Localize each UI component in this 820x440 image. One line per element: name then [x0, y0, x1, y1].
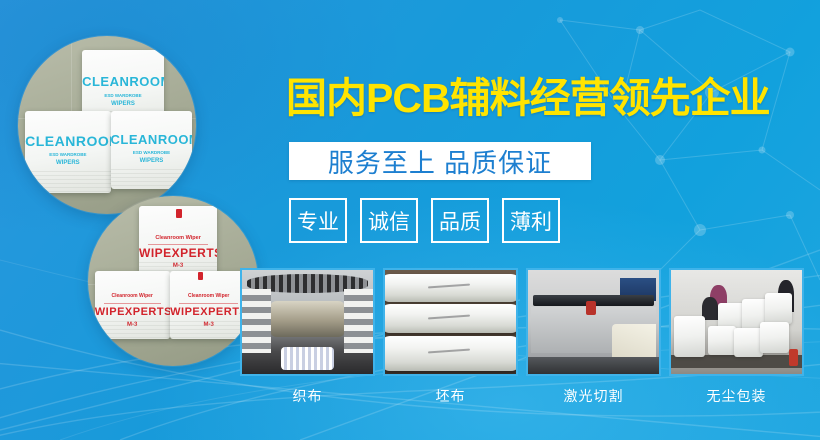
machine-base — [528, 357, 659, 374]
pack-brand-label: WIPEXPERTS — [95, 307, 170, 318]
feature-tag-low-margin[interactable]: 薄利 — [502, 198, 560, 243]
pack-hairline — [104, 303, 161, 304]
fabric-roll — [383, 304, 518, 333]
pack-subline-2: WIPERS — [111, 158, 193, 165]
packed-bale — [708, 326, 737, 355]
thumbnail-image-knitting-machine[interactable] — [240, 268, 375, 376]
pack-hairline — [179, 303, 238, 304]
wipe-pack: CLEANROOM ESD WARDROBE WIPERS — [25, 111, 110, 193]
photo-knitting-machine — [242, 270, 373, 374]
pack-subline-1: ESD WARDROBE — [25, 152, 110, 157]
roll-marking — [428, 314, 470, 319]
thumbnail-image-laser-cutter[interactable] — [526, 268, 661, 376]
yarn-spools-right — [344, 289, 373, 353]
thumbnail-caption: 无尘包装 — [669, 386, 804, 406]
photo-cleanroom-packing — [671, 270, 802, 374]
pack-subline-1: Cleanroom Wiper — [139, 235, 217, 241]
banner-subtitle-bar: 服务至上 品质保证 — [289, 142, 591, 180]
pack-subline-2: WIPERS — [25, 160, 110, 167]
thumbnail-caption: 激光切割 — [526, 386, 661, 406]
pack-seal-mark — [176, 209, 182, 218]
packed-bale — [760, 322, 789, 353]
photo-fabric-rolls — [385, 270, 516, 374]
product-photo-cleanroom-wipes: CLEANROOM ESD WARDROBE WIPERS CLEANROOM … — [18, 36, 196, 214]
pack-brand-label: CLEANROOM — [111, 133, 193, 146]
wipe-pack: Cleanroom Wiper WIPEXPERTS M-3 — [139, 206, 217, 281]
pack-subline-2: M-3 — [95, 322, 170, 329]
pack-brand-label: CLEANROOM — [82, 75, 164, 88]
feature-tag-quality[interactable]: 品质 — [431, 198, 489, 243]
machine-drum — [271, 301, 344, 336]
roll-marking — [428, 348, 470, 353]
pack-brand-label: CLEANROOM — [25, 134, 110, 148]
pack-brand-label: WIPEXPERTS — [170, 307, 248, 318]
photo-laser-cutter — [528, 270, 659, 374]
thumbnail-cell-greige-fabric[interactable]: 坯布 — [383, 268, 518, 406]
promo-banner: CLEANROOM ESD WARDROBE WIPERS CLEANROOM … — [0, 0, 820, 440]
fabric-roll — [383, 274, 518, 302]
packed-bale — [674, 316, 705, 358]
packed-bale — [765, 293, 791, 324]
product-photo-wipexperts: Cleanroom Wiper WIPEXPERTS M-3 Cleanroom… — [88, 196, 258, 366]
red-stool — [789, 349, 798, 366]
feature-tag-list: 专业 诚信 品质 薄利 — [289, 198, 560, 243]
thumbnail-cell-weaving[interactable]: 织布 — [240, 268, 375, 406]
pack-subline-1: ESD WARDROBE — [82, 93, 164, 98]
feature-tag-professional[interactable]: 专业 — [289, 198, 347, 243]
wipe-pack: Cleanroom Wiper WIPEXPERTS M-3 — [170, 271, 248, 339]
material-sheet — [612, 324, 657, 359]
feature-tag-integrity[interactable]: 诚信 — [360, 198, 418, 243]
knitted-fabric — [281, 347, 333, 370]
pack-subline-1: Cleanroom Wiper — [170, 294, 248, 300]
thumbnail-cell-laser-cutting[interactable]: 激光切割 — [526, 268, 661, 406]
fabric-roll — [383, 336, 518, 371]
worker-figure — [702, 297, 718, 320]
thumbnail-caption: 坯布 — [383, 386, 518, 406]
pack-hairline — [148, 244, 207, 245]
process-thumbnail-strip: 织布 坯布 — [240, 268, 812, 406]
banner-subtitle: 服务至上 品质保证 — [289, 142, 591, 180]
roll-marking — [428, 284, 470, 289]
surface-line — [71, 36, 72, 118]
thumbnail-caption: 织布 — [240, 386, 375, 406]
packing-table — [671, 355, 802, 367]
packed-bale — [734, 328, 763, 357]
yarn-spools-left — [242, 289, 271, 353]
laser-head — [586, 301, 596, 315]
wipe-pack: Cleanroom Wiper WIPEXPERTS M-3 — [95, 271, 170, 339]
thumbnail-image-fabric-rolls[interactable] — [383, 268, 518, 376]
pack-subline-2: WIPERS — [82, 101, 164, 108]
pack-subline-1: Cleanroom Wiper — [95, 294, 170, 300]
pack-subline-2: M-3 — [139, 263, 217, 270]
thumbnail-image-cleanroom-packing[interactable] — [669, 268, 804, 376]
pack-seal-mark — [198, 272, 203, 280]
pack-subline-2: M-3 — [170, 322, 248, 329]
pack-brand-label: WIPEXPERTS — [139, 247, 217, 259]
wipe-pack: CLEANROOM ESD WARDROBE WIPERS — [111, 111, 193, 189]
pack-subline-1: ESD WARDROBE — [111, 150, 193, 155]
banner-headline: 国内PCB辅料经营领先企业 — [286, 76, 786, 121]
thumbnail-cell-cleanroom-packing[interactable]: 无尘包装 — [669, 268, 804, 406]
